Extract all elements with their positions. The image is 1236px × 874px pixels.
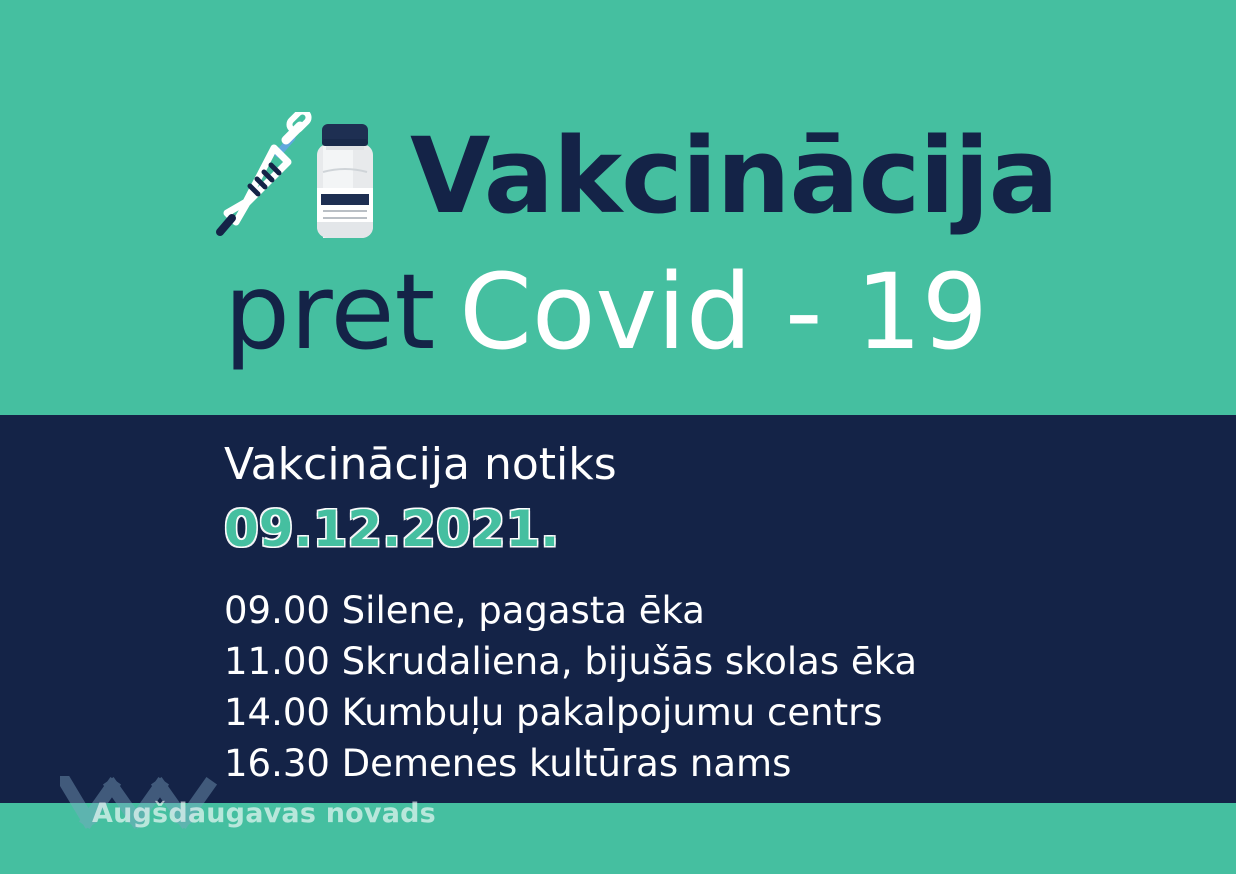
headline-vakcinacija: Vakcinācija: [410, 124, 1058, 228]
schedule-list: 09.00 Silene, pagasta ēka 11.00 Skrudali…: [224, 585, 1124, 789]
vaccination-date: 09.12.2021.: [224, 499, 1124, 559]
headline-covid-19: Covid - 19: [459, 260, 988, 364]
brand-name-label: Augšdaugavas novads: [92, 798, 436, 829]
header-icon-group: [216, 112, 388, 244]
headline-pret: pret: [224, 260, 435, 364]
notice-text: Vakcinācija notiks: [224, 440, 1124, 489]
schedule-item: 09.00 Silene, pagasta ēka: [224, 585, 1124, 636]
poster-header: Vakcinācija pret Covid - 19: [0, 0, 1236, 415]
headline-secondary: pret Covid - 19: [224, 248, 988, 376]
syringe-icon: [216, 112, 312, 238]
footer-branding: Augšdaugavas novads: [60, 776, 480, 842]
vaccination-poster: Vakcinācija pret Covid - 19 Vakcinācija …: [0, 0, 1236, 874]
schedule-item: 14.00 Kumbuļu pakalpojumu centrs: [224, 687, 1124, 738]
vaccine-vial-icon: [304, 122, 386, 240]
schedule-item: 11.00 Skrudaliena, bijušās skolas ēka: [224, 636, 1124, 687]
headline-primary: Vakcinācija: [410, 112, 1058, 240]
poster-body: Vakcinācija notiks 09.12.2021. 09.00 Sil…: [224, 440, 1124, 789]
